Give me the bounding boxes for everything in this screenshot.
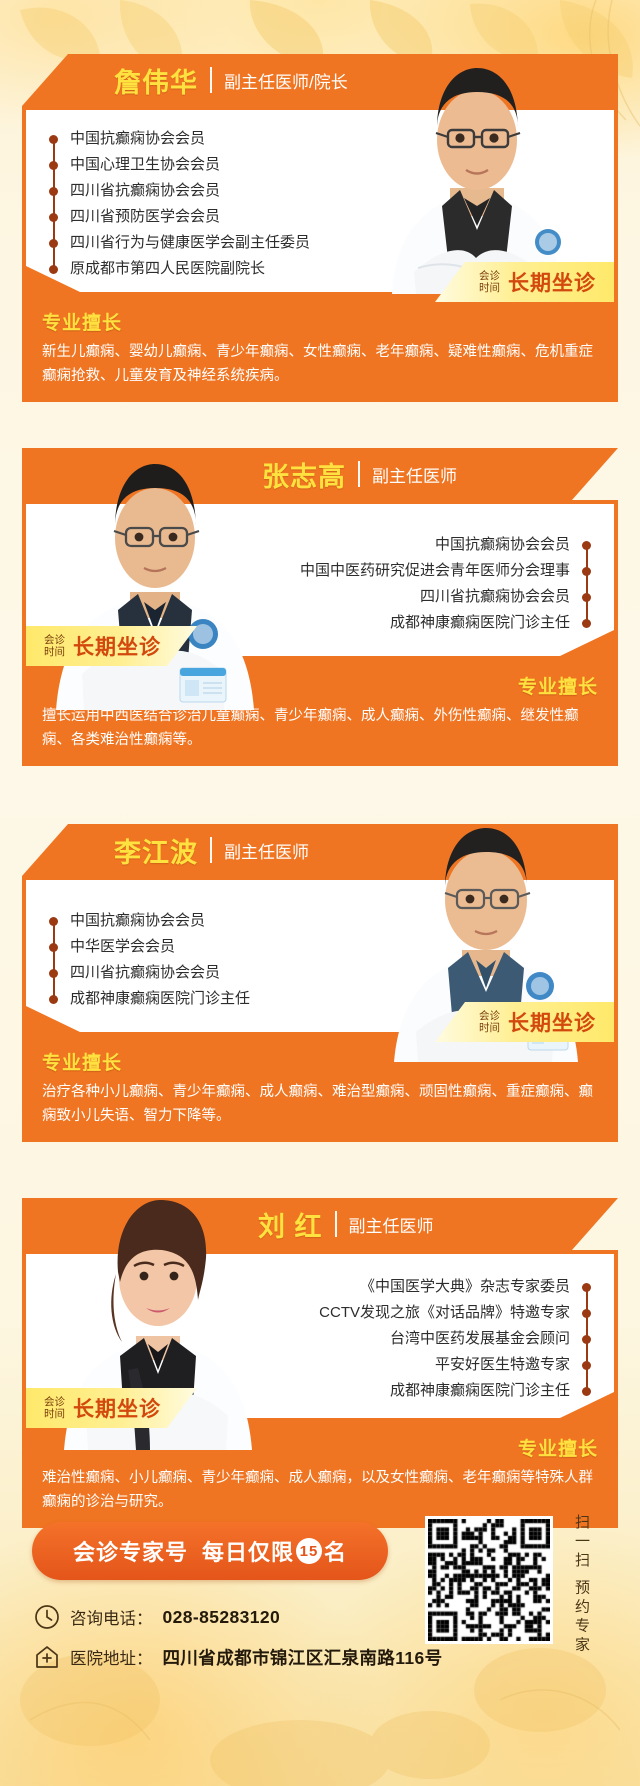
doctor-name: 詹伟华 <box>114 61 198 100</box>
credential-item: 中华医学会会员 <box>44 934 364 960</box>
appointment-banner-button[interactable]: 会诊专家号 每日仅限 15 名 <box>32 1522 388 1580</box>
schedule-label: 会诊时间 <box>479 270 500 294</box>
specialty-title: 专业擅长 <box>42 672 598 699</box>
credential-text: 平安好医生特邀专家 <box>435 1356 570 1373</box>
address-row: 医院地址： 四川省成都市锦江区汇泉南路116号 <box>34 1644 443 1670</box>
banner-mid: 每日仅限 <box>202 1535 294 1567</box>
credential-item: 成都神康癫痫医院门诊主任 <box>270 1378 596 1404</box>
doctor-body: 《中国医学大典》杂志专家委员CCTV发现之旅《对话品牌》特邀专家台湾中医药发展基… <box>22 1250 618 1422</box>
doctor-card: 詹伟华 副主任医师/院长 中国抗癫痫协会会员中国心理卫生协会会员四川省抗癫痫协会… <box>22 54 618 402</box>
credential-text: 成都神康癫痫医院门诊主任 <box>70 990 250 1007</box>
credential-list: 《中国医学大典》杂志专家委员CCTV发现之旅《对话品牌》特邀专家台湾中医药发展基… <box>270 1274 596 1404</box>
bullet-dot-icon <box>582 1361 591 1370</box>
credential-text: 四川省预防医学会会员 <box>70 208 220 225</box>
credential-item: 中国抗癫痫协会会员 <box>44 908 364 934</box>
credential-text: 成都神康癫痫医院门诊主任 <box>390 614 570 631</box>
schedule-tag: 会诊时间 长期坐诊 <box>26 626 197 666</box>
doctor-header-banner: 张志高 副主任医师 <box>22 448 618 500</box>
name-separator <box>210 837 212 863</box>
appointment-banner-text: 会诊专家号 每日仅限 15 名 <box>73 1535 347 1567</box>
specialty-description: 新生儿癫痫、婴幼儿癫痫、青少年癫痫、女性癫痫、老年癫痫、疑难性癫痫、危机重症癫痫… <box>42 340 598 388</box>
bullet-dot-icon <box>49 943 58 952</box>
daily-quota-number: 15 <box>296 1538 322 1564</box>
credential-text: 四川省抗癫痫协会会员 <box>420 588 570 605</box>
credential-text: 成都神康癫痫医院门诊主任 <box>390 1382 570 1399</box>
credential-text: 中国中医药研究促进会青年医师分会理事 <box>300 562 570 579</box>
credential-item: 四川省预防医学会会员 <box>44 204 374 230</box>
contact-footer: 会诊专家号 每日仅限 15 名 咨询电话： 028-85283120 医院地址：… <box>0 1486 640 1786</box>
bullet-dot-icon <box>49 213 58 222</box>
credential-list: 中国抗癫痫协会会员中国中医药研究促进会青年医师分会理事四川省抗癫痫协会会员成都神… <box>276 532 596 636</box>
credential-text: 原成都市第四人民医院副院长 <box>70 260 265 277</box>
doctor-title: 副主任医师 <box>224 838 309 863</box>
bullet-dot-icon <box>582 1387 591 1396</box>
address-value: 四川省成都市锦江区汇泉南路116号 <box>163 1645 443 1670</box>
phone-row[interactable]: 咨询电话： 028-85283120 <box>34 1604 280 1630</box>
credential-item: 原成都市第四人民医院副院长 <box>44 256 374 282</box>
credential-text: 四川省行为与健康医学会副主任委员 <box>70 234 310 251</box>
credential-text: 中华医学会会员 <box>70 938 175 955</box>
bullet-dot-icon <box>582 1309 591 1318</box>
credential-item: 中国心理卫生协会会员 <box>44 152 374 178</box>
specialty-title: 专业擅长 <box>42 308 598 335</box>
doctor-header-banner: 李江波 副主任医师 <box>22 824 618 876</box>
credential-list: 中国抗癫痫协会会员中华医学会会员四川省抗癫痫协会会员成都神康癫痫医院门诊主任 <box>44 908 364 1012</box>
phone-value: 028-85283120 <box>163 1607 281 1628</box>
doctor-name: 刘 红 <box>258 1205 323 1244</box>
credential-text: 中国心理卫生协会会员 <box>70 156 220 173</box>
name-separator <box>335 1211 337 1237</box>
doctor-card: 刘 红 副主任医师 《中国医学大典》杂志专家委员CCTV发现之旅《对话品牌》特邀… <box>22 1198 618 1528</box>
doctor-name: 李江波 <box>114 831 198 870</box>
doctor-body: 中国抗癫痫协会会员中国中医药研究促进会青年医师分会理事四川省抗癫痫协会会员成都神… <box>22 500 618 660</box>
doctor-body: 中国抗癫痫协会会员中华医学会会员四川省抗癫痫协会会员成都神康癫痫医院门诊主任 会… <box>22 876 618 1036</box>
credential-text: 四川省抗癫痫协会会员 <box>70 182 220 199</box>
schedule-value: 长期坐诊 <box>508 1007 596 1037</box>
doctor-body: 中国抗癫痫协会会员中国心理卫生协会会员四川省抗癫痫协会会员四川省预防医学会会员四… <box>22 106 618 296</box>
qr-caption: 扫一扫 预约专家 <box>566 1514 592 1655</box>
doctor-card: 李江波 副主任医师 中国抗癫痫协会会员中华医学会会员四川省抗癫痫协会会员成都神康… <box>22 824 618 1142</box>
credential-item: CCTV发现之旅《对话品牌》特邀专家 <box>270 1300 596 1326</box>
qr-code[interactable] <box>425 1516 553 1644</box>
specialty-description: 治疗各种小儿癫痫、青少年癫痫、成人癫痫、难治型癫痫、顽固性癫痫、重症癫痫、癫痫致… <box>42 1080 598 1128</box>
bullet-dot-icon <box>582 541 591 550</box>
credential-text: 台湾中医药发展基金会顾问 <box>390 1330 570 1347</box>
banner-prefix: 会诊专家号 <box>73 1535 188 1567</box>
doctor-name: 张志高 <box>262 455 346 494</box>
bullet-dot-icon <box>582 593 591 602</box>
bullet-dot-icon <box>582 619 591 628</box>
schedule-label: 会诊时间 <box>44 1396 65 1420</box>
credential-list: 中国抗癫痫协会会员中国心理卫生协会会员四川省抗癫痫协会会员四川省预防医学会会员四… <box>44 126 374 282</box>
bullet-dot-icon <box>49 969 58 978</box>
schedule-value: 长期坐诊 <box>508 267 596 297</box>
credential-item: 成都神康癫痫医院门诊主任 <box>44 986 364 1012</box>
credential-item: 中国抗癫痫协会会员 <box>44 126 374 152</box>
doctor-title: 副主任医师/院长 <box>224 68 348 93</box>
doctor-header-banner: 詹伟华 副主任医师/院长 <box>22 54 618 106</box>
credential-item: 《中国医学大典》杂志专家委员 <box>270 1274 596 1300</box>
bullet-dot-icon <box>49 135 58 144</box>
bullet-dot-icon <box>582 567 591 576</box>
credential-text: CCTV发现之旅《对话品牌》特邀专家 <box>319 1304 570 1321</box>
name-separator <box>210 67 212 93</box>
credential-item: 四川省抗癫痫协会会员 <box>276 584 596 610</box>
credential-item: 中国抗癫痫协会会员 <box>276 532 596 558</box>
bullet-dot-icon <box>582 1335 591 1344</box>
schedule-value: 长期坐诊 <box>73 631 161 661</box>
bullet-dot-icon <box>582 1283 591 1292</box>
credential-text: 中国抗癫痫协会会员 <box>70 912 205 929</box>
credential-text: 《中国医学大典》杂志专家委员 <box>360 1278 570 1295</box>
credential-item: 成都神康癫痫医院门诊主任 <box>276 610 596 636</box>
bullet-dot-icon <box>49 239 58 248</box>
specialty-title: 专业擅长 <box>42 1434 598 1461</box>
specialty-title: 专业擅长 <box>42 1048 598 1075</box>
schedule-label: 会诊时间 <box>44 634 65 658</box>
doctor-title: 副主任医师 <box>349 1212 434 1237</box>
specialty-description: 擅长运用中西医结合诊治儿童癫痫、青少年癫痫、成人癫痫、外伤性癫痫、继发性癫痫、各… <box>42 704 598 752</box>
credential-item: 中国中医药研究促进会青年医师分会理事 <box>276 558 596 584</box>
credential-item: 四川省行为与健康医学会副主任委员 <box>44 230 374 256</box>
schedule-label: 会诊时间 <box>479 1010 500 1034</box>
specialty-zone: 专业擅长 擅长运用中西医结合诊治儿童癫痫、青少年癫痫、成人癫痫、外伤性癫痫、继发… <box>22 660 618 766</box>
banner-suffix: 名 <box>324 1535 347 1567</box>
credential-item: 四川省抗癫痫协会会员 <box>44 960 364 986</box>
credential-item: 四川省抗癫痫协会会员 <box>44 178 374 204</box>
credential-text: 中国抗癫痫协会会员 <box>435 536 570 553</box>
phone-label: 咨询电话： <box>70 1605 153 1629</box>
specialty-zone: 专业擅长 治疗各种小儿癫痫、青少年癫痫、成人癫痫、难治型癫痫、顽固性癫痫、重症癫… <box>22 1036 618 1142</box>
credential-text: 四川省抗癫痫协会会员 <box>70 964 220 981</box>
bullet-dot-icon <box>49 161 58 170</box>
credential-item: 台湾中医药发展基金会顾问 <box>270 1326 596 1352</box>
bullet-dot-icon <box>49 917 58 926</box>
credential-text: 中国抗癫痫协会会员 <box>70 130 205 147</box>
address-label: 医院地址： <box>70 1645 153 1669</box>
doctor-header-banner: 刘 红 副主任医师 <box>22 1198 618 1250</box>
hospital-icon <box>34 1644 60 1670</box>
bullet-dot-icon <box>49 995 58 1004</box>
name-separator <box>358 461 360 487</box>
clock-icon <box>34 1604 60 1630</box>
credential-item: 平安好医生特邀专家 <box>270 1352 596 1378</box>
doctor-title: 副主任医师 <box>372 462 457 487</box>
schedule-tag: 会诊时间 长期坐诊 <box>26 1388 197 1428</box>
schedule-value: 长期坐诊 <box>73 1393 161 1423</box>
specialty-zone: 专业擅长 新生儿癫痫、婴幼儿癫痫、青少年癫痫、女性癫痫、老年癫痫、疑难性癫痫、危… <box>22 296 618 402</box>
bullet-dot-icon <box>49 265 58 274</box>
schedule-tag: 会诊时间 长期坐诊 <box>435 262 614 302</box>
schedule-tag: 会诊时间 长期坐诊 <box>435 1002 614 1042</box>
doctor-card: 张志高 副主任医师 中国抗癫痫协会会员中国中医药研究促进会青年医师分会理事四川省… <box>22 448 618 766</box>
bullet-dot-icon <box>49 187 58 196</box>
